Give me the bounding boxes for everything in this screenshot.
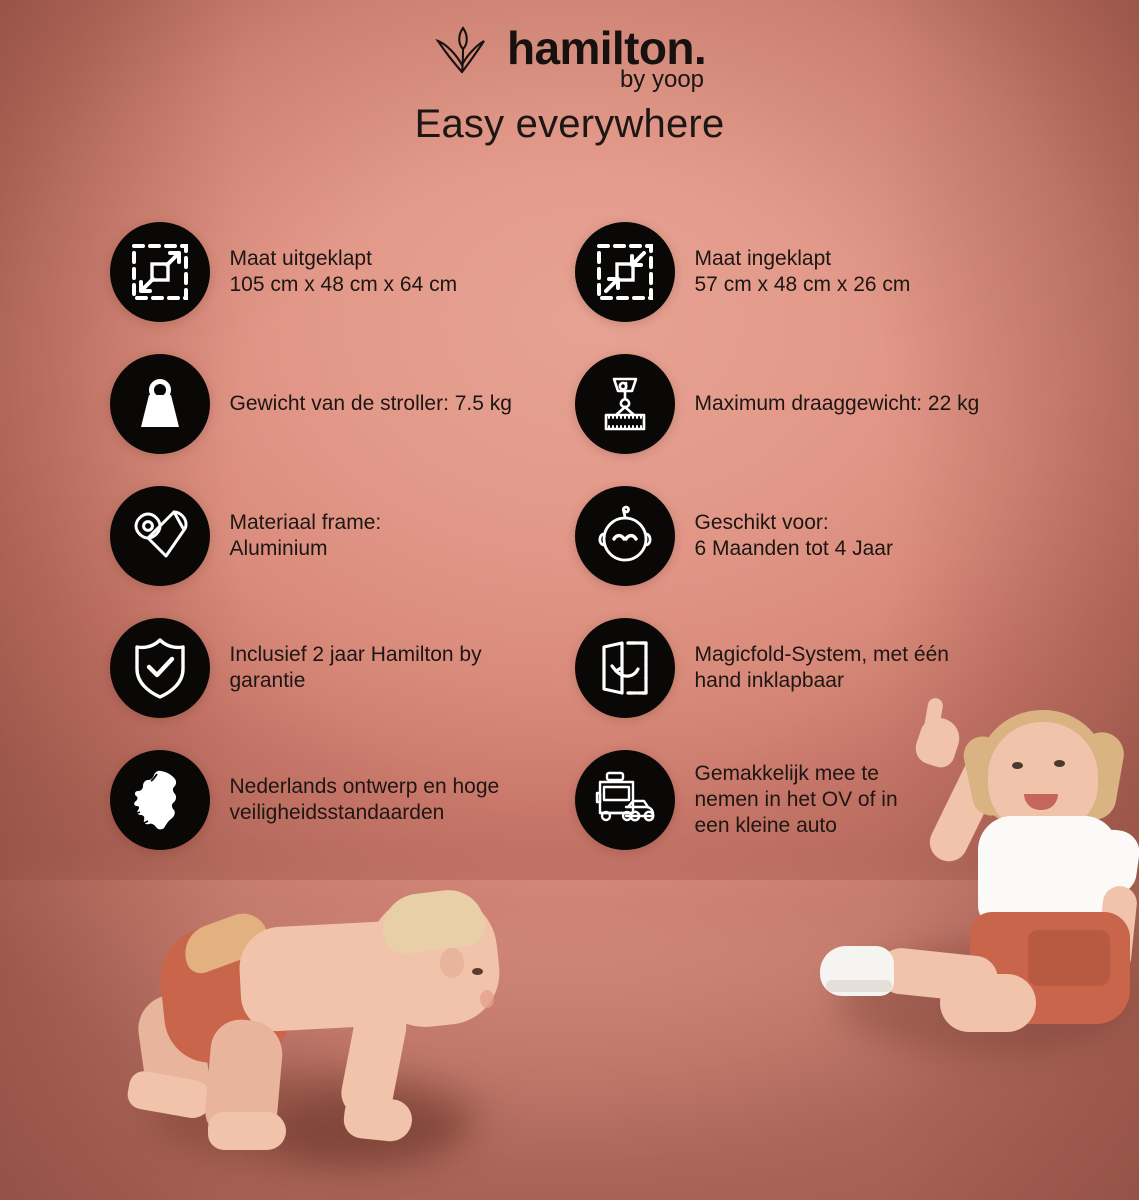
feature-item-age-range: Geschikt voor: 6 Maanden tot 4 Jaar	[575, 486, 1030, 586]
brand-lockup: hamilton. by yoop	[0, 0, 1139, 78]
feature-line: hand inklapbaar	[695, 668, 949, 694]
page-title: Easy everywhere	[0, 102, 1139, 147]
feature-label: Maat uitgeklapt 105 cm x 48 cm x 64 cm	[230, 246, 458, 298]
feature-line: nemen in het OV of in	[695, 787, 898, 813]
collapse-arrows-dashed-square-icon	[575, 222, 675, 322]
feature-item-magicfold: Magicfold-System, met één hand inklapbaa…	[575, 618, 1030, 718]
fold-panel-icon	[575, 618, 675, 718]
feature-item-folded-size: Maat ingeklapt 57 cm x 48 cm x 26 cm	[575, 222, 1030, 322]
expand-arrows-dashed-square-icon	[110, 222, 210, 322]
feature-grid: Maat uitgeklapt 105 cm x 48 cm x 64 cm M…	[0, 222, 1139, 850]
feature-line: Nederlands ontwerp en hoge	[230, 774, 500, 800]
feature-item-max-load: Maximum draaggewicht: 22 kg	[575, 354, 1030, 454]
feature-line: 57 cm x 48 cm x 26 cm	[695, 272, 911, 298]
feature-item-unfolded-size: Maat uitgeklapt 105 cm x 48 cm x 64 cm	[110, 222, 565, 322]
netherlands-map-icon	[110, 750, 210, 850]
bus-and-car-icon	[575, 750, 675, 850]
feature-item-stroller-weight: Gewicht van de stroller: 7.5 kg	[110, 354, 565, 454]
feature-label: Gemakkelijk mee te nemen in het OV of in…	[695, 761, 898, 839]
tulip-logo-icon	[433, 18, 491, 78]
feature-line: 105 cm x 48 cm x 64 cm	[230, 272, 458, 298]
feature-line: Gewicht van de stroller: 7.5 kg	[230, 391, 512, 417]
feature-line: Geschikt voor:	[695, 510, 893, 536]
feature-line: Inclusief 2 jaar Hamilton by	[230, 642, 482, 668]
baby-face-icon	[575, 486, 675, 586]
feature-label: Magicfold-System, met één hand inklapbaa…	[695, 642, 949, 694]
feature-label: Geschikt voor: 6 Maanden tot 4 Jaar	[695, 510, 893, 562]
feature-line: Gemakkelijk mee te	[695, 761, 898, 787]
feature-line: veiligheidsstandaarden	[230, 800, 500, 826]
fabric-roll-icon	[110, 486, 210, 586]
feature-line: Materiaal frame:	[230, 510, 382, 536]
feature-line: 6 Maanden tot 4 Jaar	[695, 536, 893, 562]
feature-label: Materiaal frame: Aluminium	[230, 510, 382, 562]
weight-icon	[110, 354, 210, 454]
feature-line: een kleine auto	[695, 813, 898, 839]
feature-item-frame-material: Materiaal frame: Aluminium	[110, 486, 565, 586]
header: hamilton. by yoop Easy everywhere	[0, 0, 1139, 147]
feature-line: Maximum draaggewicht: 22 kg	[695, 391, 980, 417]
feature-label: Gewicht van de stroller: 7.5 kg	[230, 391, 512, 417]
feature-label: Maximum draaggewicht: 22 kg	[695, 391, 980, 417]
feature-line: Maat ingeklapt	[695, 246, 911, 272]
feature-line: Aluminium	[230, 536, 382, 562]
feature-item-public-transport: Gemakkelijk mee te nemen in het OV of in…	[575, 750, 1030, 850]
shield-check-icon	[110, 618, 210, 718]
feature-item-dutch-design: Nederlands ontwerp en hoge veiligheidsst…	[110, 750, 565, 850]
feature-label: Nederlands ontwerp en hoge veiligheidsst…	[230, 774, 500, 826]
brand-wordmark: hamilton. by yoop	[507, 23, 706, 73]
feature-label: Inclusief 2 jaar Hamilton by garantie	[230, 642, 482, 694]
brand-tagline: by yoop	[620, 67, 704, 93]
feature-line: Magicfold-System, met één	[695, 642, 949, 668]
feature-line: garantie	[230, 668, 482, 694]
crane-hook-load-icon	[575, 354, 675, 454]
feature-label: Maat ingeklapt 57 cm x 48 cm x 26 cm	[695, 246, 911, 298]
feature-line: Maat uitgeklapt	[230, 246, 458, 272]
feature-item-warranty: Inclusief 2 jaar Hamilton by garantie	[110, 618, 565, 718]
